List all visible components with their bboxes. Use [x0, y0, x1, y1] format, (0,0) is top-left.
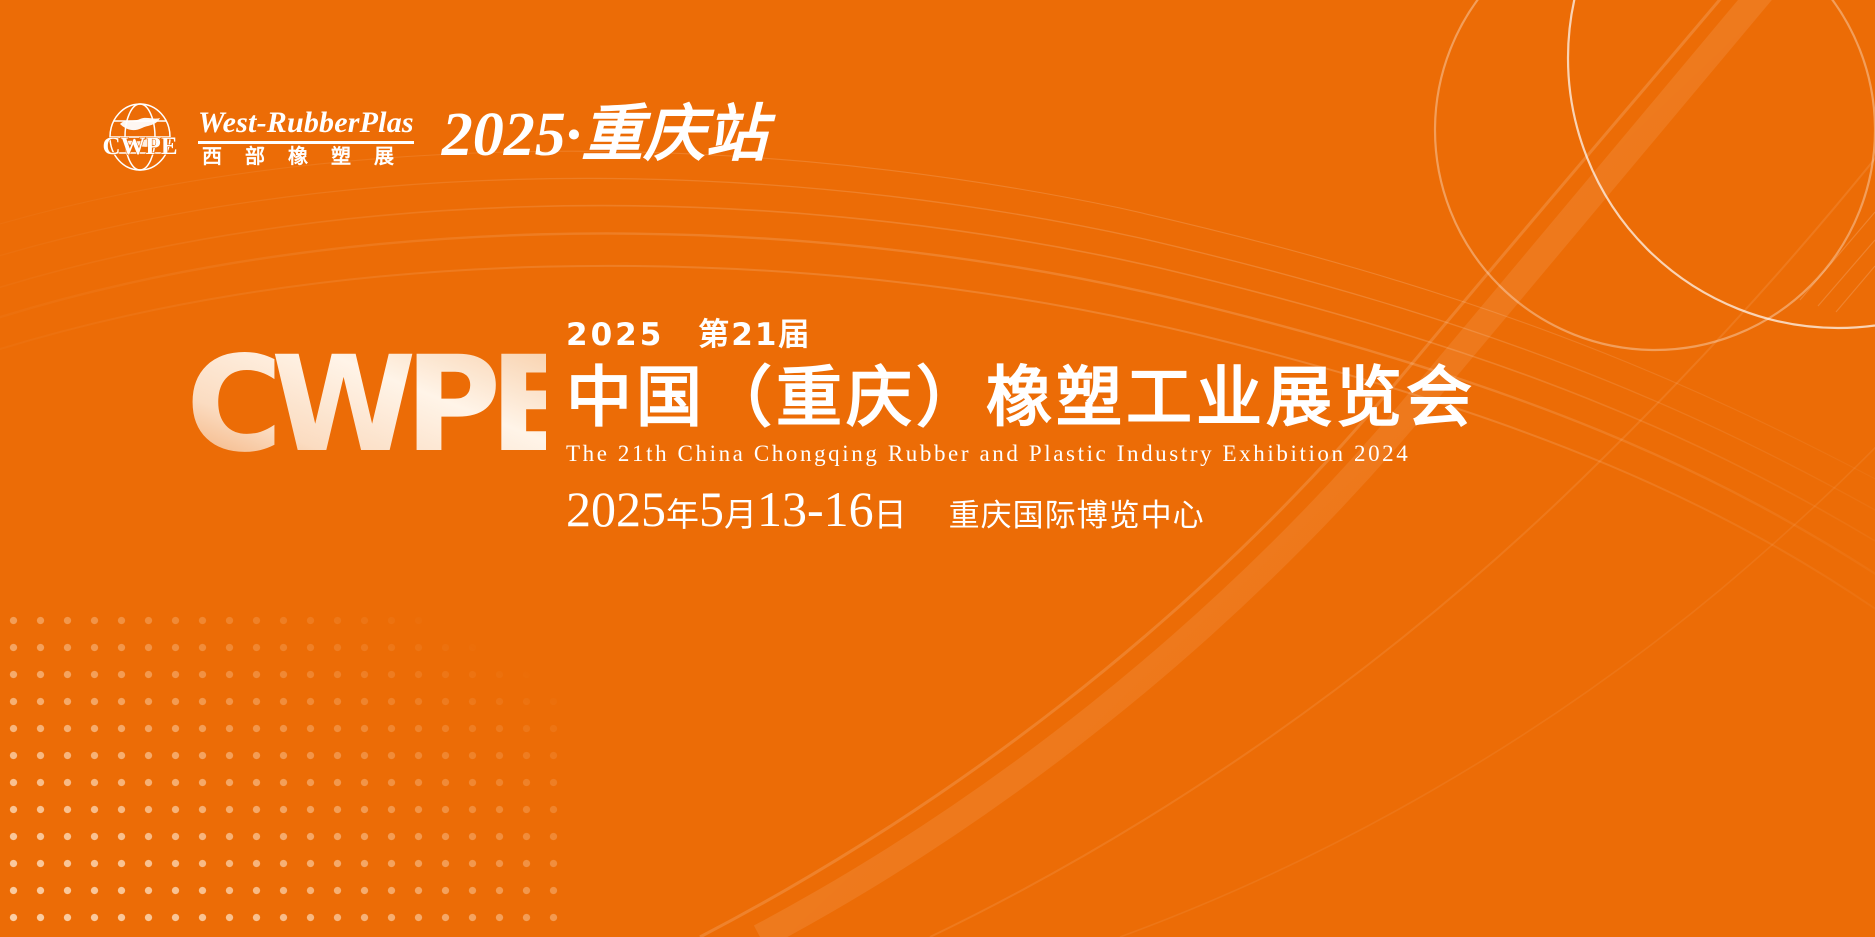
- eyebrow-year: 2025: [566, 320, 664, 351]
- decor-circle-right: [1568, 0, 1875, 328]
- event-venue: 重庆国际博览中心: [949, 500, 1205, 531]
- cwpe-wordmark-icon: CWPE: [186, 334, 546, 474]
- decor-circle-outlines: [1435, 0, 1875, 350]
- hero-meta-row: 2025年5月13-16日 重庆国际博览中心: [566, 484, 1746, 534]
- brand-wordmark: West-RubberPlas 西 部 橡 塑 展: [198, 106, 414, 169]
- decor-hairlines: [1800, 212, 1875, 312]
- halftone-dot-pattern: [0, 607, 560, 937]
- date-year-unit: 年: [666, 498, 699, 534]
- svg-text:CWPE: CWPE: [186, 334, 546, 474]
- date-month: 5: [699, 481, 724, 537]
- header-headline: 2025·重庆站: [442, 104, 768, 166]
- decor-circle-left: [1435, 0, 1875, 350]
- date-month-unit: 月: [724, 498, 757, 534]
- header-lockup: CWPE West-RubberPlas 西 部 橡 塑 展 2025·重庆站: [96, 96, 767, 178]
- event-date: 2025年5月13-16日: [566, 484, 907, 534]
- date-days: 13-16: [757, 481, 874, 537]
- date-year: 2025: [566, 481, 666, 537]
- promo-banner: CWPE West-RubberPlas 西 部 橡 塑 展 2025·重庆站: [0, 0, 1875, 937]
- hero-block: CWPE 2025 第21届 中国（重庆）橡塑工业展览会 The 21th Ch…: [186, 320, 1746, 534]
- brand-chinese-text: 西 部 橡 塑 展: [198, 147, 414, 168]
- hero-subtitle-en: The 21th China Chongqing Rubber and Plas…: [566, 440, 1746, 468]
- eyebrow-edition: 第21届: [698, 320, 811, 351]
- globe-cwpe-icon: CWPE: [96, 98, 184, 176]
- brand-latin-text: West-RubberPlas: [198, 108, 414, 139]
- svg-text:CWPE: CWPE: [103, 133, 178, 160]
- hero-text-block: 2025 第21届 中国（重庆）橡塑工业展览会 The 21th China C…: [566, 320, 1746, 534]
- hero-eyebrow: 2025 第21届: [566, 320, 1746, 351]
- date-day-unit: 日: [874, 498, 907, 534]
- hero-title-cn: 中国（重庆）橡塑工业展览会: [566, 364, 1746, 432]
- brand-divider-rule: [198, 141, 414, 144]
